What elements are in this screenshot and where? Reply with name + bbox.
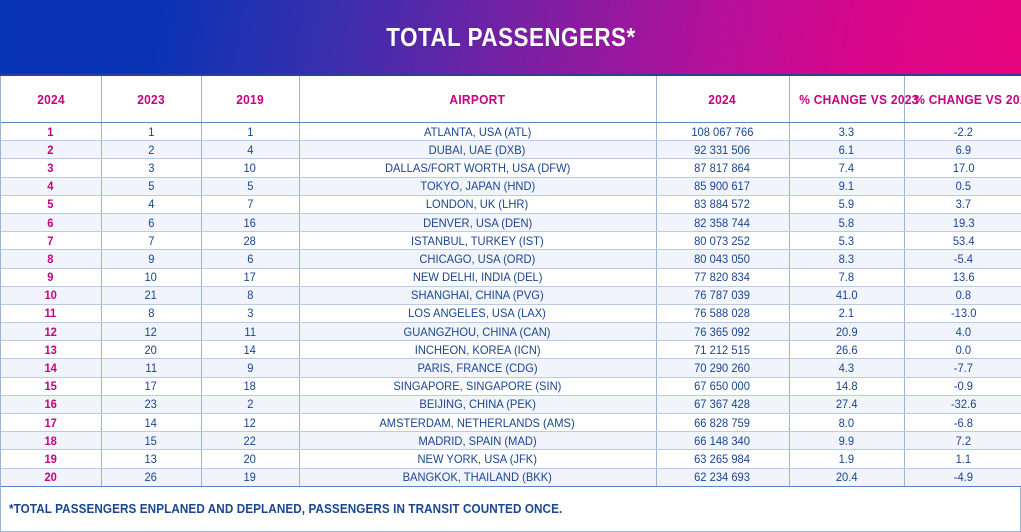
column-header-rank-2019: 2019 (201, 76, 299, 123)
column-header-change-vs-2023-label: % CHANGE VS 2023 (799, 92, 918, 107)
footnote-text: *TOTAL PASSENGERS ENPLANED AND DEPLANED,… (9, 501, 562, 516)
table-row: 111ATLANTA, USA (ATL)108 067 7663.3-2.2 (1, 123, 1021, 141)
cell-airport-text: NEW YORK, USA (JFK) (418, 453, 537, 465)
cell-change-vs-2023: 9.1 (789, 177, 904, 195)
cell-rank-2024-text: 8 (48, 253, 54, 265)
cell-rank-2023: 3 (101, 159, 201, 177)
cell-passengers-2024: 66 828 759 (656, 414, 789, 432)
cell-airport-text: GUANGZHOU, CHINA (CAN) (404, 326, 551, 338)
cell-rank-2023-text: 21 (145, 289, 157, 301)
cell-passengers-2024-text: 66 148 340 (695, 435, 751, 447)
cell-rank-2019-text: 1 (247, 126, 253, 138)
cell-rank-2023-text: 17 (145, 380, 157, 392)
cell-rank-2024: 19 (1, 450, 101, 468)
table-row: 121211GUANGZHOU, CHINA (CAN)76 365 09220… (1, 323, 1021, 341)
cell-change-vs-2019-text: 0.5 (955, 180, 971, 192)
cell-airport: SINGAPORE, SINGAPORE (SIN) (299, 377, 656, 395)
cell-change-vs-2023-text: 26.6 (836, 344, 858, 356)
cell-rank-2024: 15 (1, 377, 101, 395)
cell-rank-2024-text: 2 (48, 144, 54, 156)
cell-rank-2024-text: 3 (48, 162, 54, 174)
column-header-change-vs-2019: % CHANGE VS 2019 (904, 76, 1021, 123)
cell-change-vs-2023-text: 7.8 (839, 271, 855, 283)
cell-change-vs-2023-text: 27.4 (836, 398, 858, 410)
cell-passengers-2024: 80 043 050 (656, 250, 789, 268)
cell-change-vs-2019: 1.1 (904, 450, 1021, 468)
cell-rank-2019: 12 (201, 414, 299, 432)
cell-rank-2023: 9 (101, 250, 201, 268)
cell-rank-2023: 20 (101, 341, 201, 359)
table-row: 181522MADRID, SPAIN (MAD)66 148 3409.97.… (1, 432, 1021, 450)
cell-change-vs-2019: 7.2 (904, 432, 1021, 450)
cell-change-vs-2019-text: 3.7 (955, 198, 971, 210)
cell-rank-2019: 6 (201, 250, 299, 268)
cell-rank-2023: 10 (101, 268, 201, 286)
cell-rank-2019-text: 19 (244, 471, 256, 483)
cell-rank-2024-text: 11 (45, 307, 57, 319)
cell-rank-2023-text: 2 (148, 144, 154, 156)
cell-rank-2019: 4 (201, 141, 299, 159)
cell-airport-text: AMSTERDAM, NETHERLANDS (AMS) (380, 417, 575, 429)
table-row: 1183LOS ANGELES, USA (LAX)76 588 0282.1-… (1, 304, 1021, 322)
cell-change-vs-2023-text: 5.3 (839, 235, 855, 247)
cell-rank-2023: 4 (101, 195, 201, 213)
cell-rank-2023-text: 11 (145, 362, 157, 374)
cell-change-vs-2019-text: -4.9 (954, 471, 973, 483)
cell-rank-2024: 18 (1, 432, 101, 450)
cell-passengers-2024: 82 358 744 (656, 213, 789, 231)
cell-change-vs-2019: -0.9 (904, 377, 1021, 395)
cell-rank-2023-text: 23 (145, 398, 157, 410)
cell-rank-2023: 11 (101, 359, 201, 377)
cell-rank-2023-text: 10 (145, 271, 157, 283)
column-header-airport-label: AIRPORT (450, 92, 506, 107)
cell-airport: AMSTERDAM, NETHERLANDS (AMS) (299, 414, 656, 432)
cell-rank-2023-text: 4 (148, 198, 154, 210)
cell-change-vs-2019: -13.0 (904, 304, 1021, 322)
cell-rank-2019-text: 6 (247, 253, 253, 265)
cell-rank-2019-text: 2 (247, 398, 253, 410)
cell-change-vs-2019-text: -32.6 (951, 398, 976, 410)
cell-change-vs-2023: 5.9 (789, 195, 904, 213)
cell-rank-2023-text: 9 (148, 253, 154, 265)
cell-rank-2023-text: 5 (148, 180, 154, 192)
cell-passengers-2024-text: 67 650 000 (695, 380, 751, 392)
cell-passengers-2024-text: 71 212 515 (695, 344, 751, 356)
cell-rank-2024-text: 4 (48, 180, 54, 192)
cell-change-vs-2019-text: -7.7 (954, 362, 973, 374)
cell-rank-2019-text: 5 (247, 180, 253, 192)
cell-rank-2024: 4 (1, 177, 101, 195)
cell-rank-2023-text: 8 (148, 307, 154, 319)
cell-rank-2024: 11 (1, 304, 101, 322)
cell-rank-2024: 5 (1, 195, 101, 213)
table-row: 3310DALLAS/FORT WORTH, USA (DFW)87 817 8… (1, 159, 1021, 177)
cell-airport: PARIS, FRANCE (CDG) (299, 359, 656, 377)
cell-rank-2024-text: 1 (48, 126, 54, 138)
cell-rank-2024-text: 14 (45, 362, 57, 374)
cell-change-vs-2019-text: 1.1 (955, 453, 971, 465)
cell-airport: NEW DELHI, INDIA (DEL) (299, 268, 656, 286)
cell-rank-2019-text: 22 (244, 435, 256, 447)
cell-passengers-2024: 92 331 506 (656, 141, 789, 159)
cell-passengers-2024-text: 80 043 050 (695, 253, 751, 265)
cell-change-vs-2019-text: -13.0 (951, 307, 976, 319)
table-row: 224DUBAI, UAE (DXB)92 331 5066.16.9 (1, 141, 1021, 159)
cell-rank-2023-text: 12 (145, 326, 157, 338)
cell-change-vs-2019: 0.0 (904, 341, 1021, 359)
cell-rank-2023-text: 14 (145, 417, 157, 429)
cell-rank-2023-text: 20 (145, 344, 157, 356)
cell-airport-text: MADRID, SPAIN (MAD) (418, 435, 536, 447)
cell-rank-2023: 7 (101, 232, 201, 250)
cell-change-vs-2023-text: 8.0 (839, 417, 855, 429)
column-header-rank-2023-label: 2023 (137, 92, 165, 107)
cell-rank-2019: 22 (201, 432, 299, 450)
cell-airport-text: ISTANBUL, TURKEY (IST) (411, 235, 544, 247)
page-title: TOTAL PASSENGERS* (386, 22, 635, 53)
cell-change-vs-2023-text: 2.1 (839, 307, 855, 319)
cell-change-vs-2019: -4.9 (904, 468, 1021, 486)
table-header-row: 2024 2023 2019 AIRPORT 2024 % CHANGE VS … (1, 76, 1021, 123)
table-row: 16232BEIJING, CHINA (PEK)67 367 42827.4-… (1, 395, 1021, 413)
cell-change-vs-2019: -32.6 (904, 395, 1021, 413)
cell-rank-2024-text: 17 (45, 417, 57, 429)
cell-change-vs-2019-text: -5.4 (954, 253, 973, 265)
cell-change-vs-2023-text: 14.8 (836, 380, 858, 392)
column-header-passengers-2024-label: 2024 (709, 92, 737, 107)
cell-change-vs-2019-text: 13.6 (952, 271, 974, 283)
cell-rank-2024: 13 (1, 341, 101, 359)
cell-rank-2024-text: 15 (45, 380, 57, 392)
cell-change-vs-2023: 27.4 (789, 395, 904, 413)
ranking-table-container: 2024 2023 2019 AIRPORT 2024 % CHANGE VS … (0, 76, 1021, 487)
cell-rank-2024-text: 18 (45, 435, 57, 447)
cell-rank-2024: 7 (1, 232, 101, 250)
cell-rank-2019-text: 11 (244, 326, 256, 338)
cell-change-vs-2019-text: -2.2 (954, 126, 973, 138)
cell-airport: TOKYO, JAPAN (HND) (299, 177, 656, 195)
cell-rank-2019: 5 (201, 177, 299, 195)
cell-airport: LOS ANGELES, USA (LAX) (299, 304, 656, 322)
cell-airport-text: LONDON, UK (LHR) (426, 198, 528, 210)
cell-rank-2024: 1 (1, 123, 101, 141)
cell-change-vs-2023-text: 20.4 (836, 471, 858, 483)
cell-change-vs-2019-text: 6.9 (955, 144, 971, 156)
cell-rank-2024-text: 10 (45, 289, 57, 301)
ranking-table: 2024 2023 2019 AIRPORT 2024 % CHANGE VS … (1, 76, 1021, 487)
cell-airport: DALLAS/FORT WORTH, USA (DFW) (299, 159, 656, 177)
cell-passengers-2024-text: 76 787 039 (695, 289, 751, 301)
cell-rank-2019: 7 (201, 195, 299, 213)
cell-change-vs-2023: 5.8 (789, 213, 904, 231)
cell-airport-text: ATLANTA, USA (ATL) (424, 126, 531, 138)
cell-change-vs-2023: 2.1 (789, 304, 904, 322)
cell-rank-2023: 26 (101, 468, 201, 486)
cell-rank-2024: 9 (1, 268, 101, 286)
cell-change-vs-2019: 0.5 (904, 177, 1021, 195)
cell-passengers-2024-text: 83 884 572 (695, 198, 751, 210)
cell-airport: ATLANTA, USA (ATL) (299, 123, 656, 141)
cell-airport: SHANGHAI, CHINA (PVG) (299, 286, 656, 304)
cell-rank-2023: 15 (101, 432, 201, 450)
table-row: 171412AMSTERDAM, NETHERLANDS (AMS)66 828… (1, 414, 1021, 432)
cell-change-vs-2023: 8.0 (789, 414, 904, 432)
cell-change-vs-2023: 20.4 (789, 468, 904, 486)
cell-rank-2019: 17 (201, 268, 299, 286)
cell-airport: CHICAGO, USA (ORD) (299, 250, 656, 268)
cell-change-vs-2023-text: 4.3 (839, 362, 855, 374)
cell-passengers-2024-text: 66 828 759 (695, 417, 751, 429)
cell-rank-2023: 23 (101, 395, 201, 413)
cell-rank-2023-text: 26 (145, 471, 157, 483)
cell-airport: BANGKOK, THAILAND (BKK) (299, 468, 656, 486)
cell-rank-2024: 10 (1, 286, 101, 304)
cell-rank-2024-text: 16 (45, 398, 57, 410)
cell-passengers-2024: 76 365 092 (656, 323, 789, 341)
cell-change-vs-2023: 7.4 (789, 159, 904, 177)
cell-passengers-2024: 77 820 834 (656, 268, 789, 286)
column-header-airport: AIRPORT (299, 76, 656, 123)
cell-airport: GUANGZHOU, CHINA (CAN) (299, 323, 656, 341)
cell-change-vs-2023-text: 5.8 (839, 217, 855, 229)
cell-rank-2019: 9 (201, 359, 299, 377)
footnote: *TOTAL PASSENGERS ENPLANED AND DEPLANED,… (0, 487, 1021, 532)
cell-passengers-2024-text: 80 073 252 (695, 235, 751, 247)
cell-change-vs-2023: 7.8 (789, 268, 904, 286)
cell-rank-2024: 2 (1, 141, 101, 159)
cell-passengers-2024: 71 212 515 (656, 341, 789, 359)
cell-rank-2024: 20 (1, 468, 101, 486)
cell-rank-2019: 28 (201, 232, 299, 250)
cell-change-vs-2019: 19.3 (904, 213, 1021, 231)
cell-passengers-2024: 76 588 028 (656, 304, 789, 322)
column-header-rank-2024-label: 2024 (37, 92, 65, 107)
cell-change-vs-2023-text: 8.3 (839, 253, 855, 265)
cell-passengers-2024-text: 63 265 984 (695, 453, 751, 465)
cell-rank-2023: 6 (101, 213, 201, 231)
cell-rank-2019-text: 8 (247, 289, 253, 301)
table-row: 455TOKYO, JAPAN (HND)85 900 6179.10.5 (1, 177, 1021, 195)
cell-rank-2024-text: 12 (45, 326, 57, 338)
cell-airport-text: BANGKOK, THAILAND (BKK) (403, 471, 552, 483)
cell-airport-text: INCHEON, KOREA (ICN) (415, 344, 541, 356)
cell-rank-2023: 13 (101, 450, 201, 468)
cell-change-vs-2023: 3.3 (789, 123, 904, 141)
cell-rank-2019-text: 12 (244, 417, 256, 429)
cell-airport: DUBAI, UAE (DXB) (299, 141, 656, 159)
cell-change-vs-2019: 17.0 (904, 159, 1021, 177)
cell-change-vs-2019: 13.6 (904, 268, 1021, 286)
cell-rank-2019-text: 7 (247, 198, 253, 210)
cell-rank-2023: 14 (101, 414, 201, 432)
cell-airport-text: CHICAGO, USA (ORD) (420, 253, 536, 265)
cell-passengers-2024-text: 77 820 834 (695, 271, 751, 283)
cell-airport: INCHEON, KOREA (ICN) (299, 341, 656, 359)
cell-passengers-2024-text: 76 588 028 (695, 307, 751, 319)
table-row: 132014INCHEON, KOREA (ICN)71 212 51526.6… (1, 341, 1021, 359)
cell-change-vs-2023: 6.1 (789, 141, 904, 159)
cell-change-vs-2023: 9.9 (789, 432, 904, 450)
cell-change-vs-2023-text: 3.3 (839, 126, 855, 138)
table-row: 6616DENVER, USA (DEN)82 358 7445.819.3 (1, 213, 1021, 231)
cell-change-vs-2019: 6.9 (904, 141, 1021, 159)
cell-rank-2023: 12 (101, 323, 201, 341)
cell-rank-2023: 8 (101, 304, 201, 322)
cell-rank-2024-text: 5 (48, 198, 54, 210)
table-body: 111ATLANTA, USA (ATL)108 067 7663.3-2.22… (1, 123, 1021, 487)
cell-airport-text: SINGAPORE, SINGAPORE (SIN) (393, 380, 561, 392)
banner-header: TOTAL PASSENGERS* (0, 0, 1021, 76)
cell-passengers-2024: 70 290 260 (656, 359, 789, 377)
cell-change-vs-2019: 53.4 (904, 232, 1021, 250)
cell-rank-2019: 8 (201, 286, 299, 304)
cell-passengers-2024: 63 265 984 (656, 450, 789, 468)
cell-rank-2019-text: 17 (244, 271, 256, 283)
cell-change-vs-2019: 4.0 (904, 323, 1021, 341)
cell-change-vs-2023-text: 9.9 (839, 435, 855, 447)
cell-passengers-2024-text: 62 234 693 (695, 471, 751, 483)
cell-airport: BEIJING, CHINA (PEK) (299, 395, 656, 413)
cell-rank-2019: 20 (201, 450, 299, 468)
cell-airport-text: SHANGHAI, CHINA (PVG) (411, 289, 544, 301)
cell-passengers-2024-text: 76 365 092 (695, 326, 751, 338)
cell-passengers-2024: 83 884 572 (656, 195, 789, 213)
cell-rank-2019: 10 (201, 159, 299, 177)
passenger-ranking-infographic: TOTAL PASSENGERS* 2024 2023 2019 AIRPORT… (0, 0, 1021, 525)
cell-change-vs-2019: -6.8 (904, 414, 1021, 432)
cell-rank-2019-text: 10 (244, 162, 256, 174)
cell-rank-2023: 2 (101, 141, 201, 159)
cell-change-vs-2023-text: 5.9 (839, 198, 855, 210)
cell-rank-2019: 1 (201, 123, 299, 141)
cell-rank-2023-text: 1 (148, 126, 154, 138)
column-header-rank-2024: 2024 (1, 76, 101, 123)
table-row: 151718SINGAPORE, SINGAPORE (SIN)67 650 0… (1, 377, 1021, 395)
cell-airport-text: TOKYO, JAPAN (HND) (420, 180, 535, 192)
cell-change-vs-2023-text: 9.1 (839, 180, 855, 192)
cell-rank-2024-text: 20 (45, 471, 57, 483)
cell-rank-2019: 14 (201, 341, 299, 359)
cell-change-vs-2019-text: 17.0 (952, 162, 974, 174)
cell-airport: LONDON, UK (LHR) (299, 195, 656, 213)
cell-rank-2024: 12 (1, 323, 101, 341)
cell-passengers-2024-text: 87 817 864 (695, 162, 751, 174)
cell-rank-2023-text: 6 (148, 217, 154, 229)
cell-change-vs-2023-text: 20.9 (836, 326, 858, 338)
column-header-change-vs-2019-label: % CHANGE VS 2019 (914, 92, 1021, 107)
cell-change-vs-2019-text: 7.2 (955, 435, 971, 447)
table-row: 7728ISTANBUL, TURKEY (IST)80 073 2525.35… (1, 232, 1021, 250)
cell-airport: MADRID, SPAIN (MAD) (299, 432, 656, 450)
table-row: 202619BANGKOK, THAILAND (BKK)62 234 6932… (1, 468, 1021, 486)
cell-rank-2024-text: 9 (48, 271, 54, 283)
cell-rank-2023: 17 (101, 377, 201, 395)
cell-passengers-2024-text: 85 900 617 (695, 180, 751, 192)
cell-change-vs-2023-text: 6.1 (839, 144, 855, 156)
cell-change-vs-2023: 26.6 (789, 341, 904, 359)
cell-change-vs-2019-text: 4.0 (955, 326, 971, 338)
cell-passengers-2024-text: 92 331 506 (695, 144, 751, 156)
cell-rank-2023: 5 (101, 177, 201, 195)
cell-airport: DENVER, USA (DEN) (299, 213, 656, 231)
cell-change-vs-2019-text: -6.8 (954, 417, 973, 429)
cell-airport: ISTANBUL, TURKEY (IST) (299, 232, 656, 250)
cell-rank-2024: 6 (1, 213, 101, 231)
cell-airport-text: PARIS, FRANCE (CDG) (417, 362, 537, 374)
cell-passengers-2024: 62 234 693 (656, 468, 789, 486)
cell-rank-2019-text: 16 (244, 217, 256, 229)
cell-rank-2024: 3 (1, 159, 101, 177)
cell-passengers-2024-text: 108 067 766 (691, 126, 753, 138)
cell-passengers-2024: 108 067 766 (656, 123, 789, 141)
cell-rank-2019-text: 4 (247, 144, 253, 156)
cell-change-vs-2019-text: 53.4 (952, 235, 974, 247)
cell-change-vs-2023: 8.3 (789, 250, 904, 268)
cell-rank-2023-text: 3 (148, 162, 154, 174)
cell-airport-text: BEIJING, CHINA (PEK) (419, 398, 536, 410)
column-header-change-vs-2023: % CHANGE VS 2023 (789, 76, 904, 123)
cell-passengers-2024: 87 817 864 (656, 159, 789, 177)
cell-passengers-2024-text: 67 367 428 (695, 398, 751, 410)
cell-change-vs-2019: -7.7 (904, 359, 1021, 377)
table-row: 896CHICAGO, USA (ORD)80 043 0508.3-5.4 (1, 250, 1021, 268)
cell-rank-2019-text: 9 (247, 362, 253, 374)
cell-rank-2019: 16 (201, 213, 299, 231)
cell-rank-2024-text: 6 (48, 217, 54, 229)
cell-change-vs-2019-text: 19.3 (952, 217, 974, 229)
cell-change-vs-2023: 41.0 (789, 286, 904, 304)
cell-rank-2023: 1 (101, 123, 201, 141)
table-row: 191320NEW YORK, USA (JFK)63 265 9841.91.… (1, 450, 1021, 468)
cell-rank-2019: 11 (201, 323, 299, 341)
cell-passengers-2024-text: 70 290 260 (695, 362, 751, 374)
cell-rank-2019-text: 20 (244, 453, 256, 465)
cell-rank-2024: 8 (1, 250, 101, 268)
cell-rank-2023-text: 13 (145, 453, 157, 465)
cell-passengers-2024: 76 787 039 (656, 286, 789, 304)
cell-rank-2024: 14 (1, 359, 101, 377)
table-row: 91017NEW DELHI, INDIA (DEL)77 820 8347.8… (1, 268, 1021, 286)
table-row: 10218SHANGHAI, CHINA (PVG)76 787 03941.0… (1, 286, 1021, 304)
cell-rank-2019-text: 3 (247, 307, 253, 319)
table-row: 14119PARIS, FRANCE (CDG)70 290 2604.3-7.… (1, 359, 1021, 377)
cell-passengers-2024-text: 82 358 744 (695, 217, 751, 229)
cell-passengers-2024: 67 367 428 (656, 395, 789, 413)
cell-airport-text: NEW DELHI, INDIA (DEL) (413, 271, 543, 283)
cell-airport-text: DUBAI, UAE (DXB) (429, 144, 526, 156)
cell-airport: NEW YORK, USA (JFK) (299, 450, 656, 468)
cell-change-vs-2019-text: 0.8 (955, 289, 971, 301)
cell-change-vs-2023-text: 41.0 (836, 289, 858, 301)
cell-change-vs-2023: 4.3 (789, 359, 904, 377)
cell-passengers-2024: 85 900 617 (656, 177, 789, 195)
cell-airport-text: DENVER, USA (DEN) (423, 217, 532, 229)
cell-change-vs-2023: 5.3 (789, 232, 904, 250)
column-header-passengers-2024: 2024 (656, 76, 789, 123)
cell-change-vs-2023-text: 7.4 (839, 162, 855, 174)
cell-change-vs-2023-text: 1.9 (839, 453, 855, 465)
cell-change-vs-2019: -5.4 (904, 250, 1021, 268)
cell-rank-2019-text: 18 (244, 380, 256, 392)
cell-rank-2024-text: 7 (48, 235, 54, 247)
cell-rank-2023: 21 (101, 286, 201, 304)
cell-rank-2019-text: 14 (244, 344, 256, 356)
cell-rank-2019: 18 (201, 377, 299, 395)
cell-rank-2024-text: 13 (45, 344, 57, 356)
cell-rank-2019-text: 28 (244, 235, 256, 247)
cell-rank-2024: 16 (1, 395, 101, 413)
